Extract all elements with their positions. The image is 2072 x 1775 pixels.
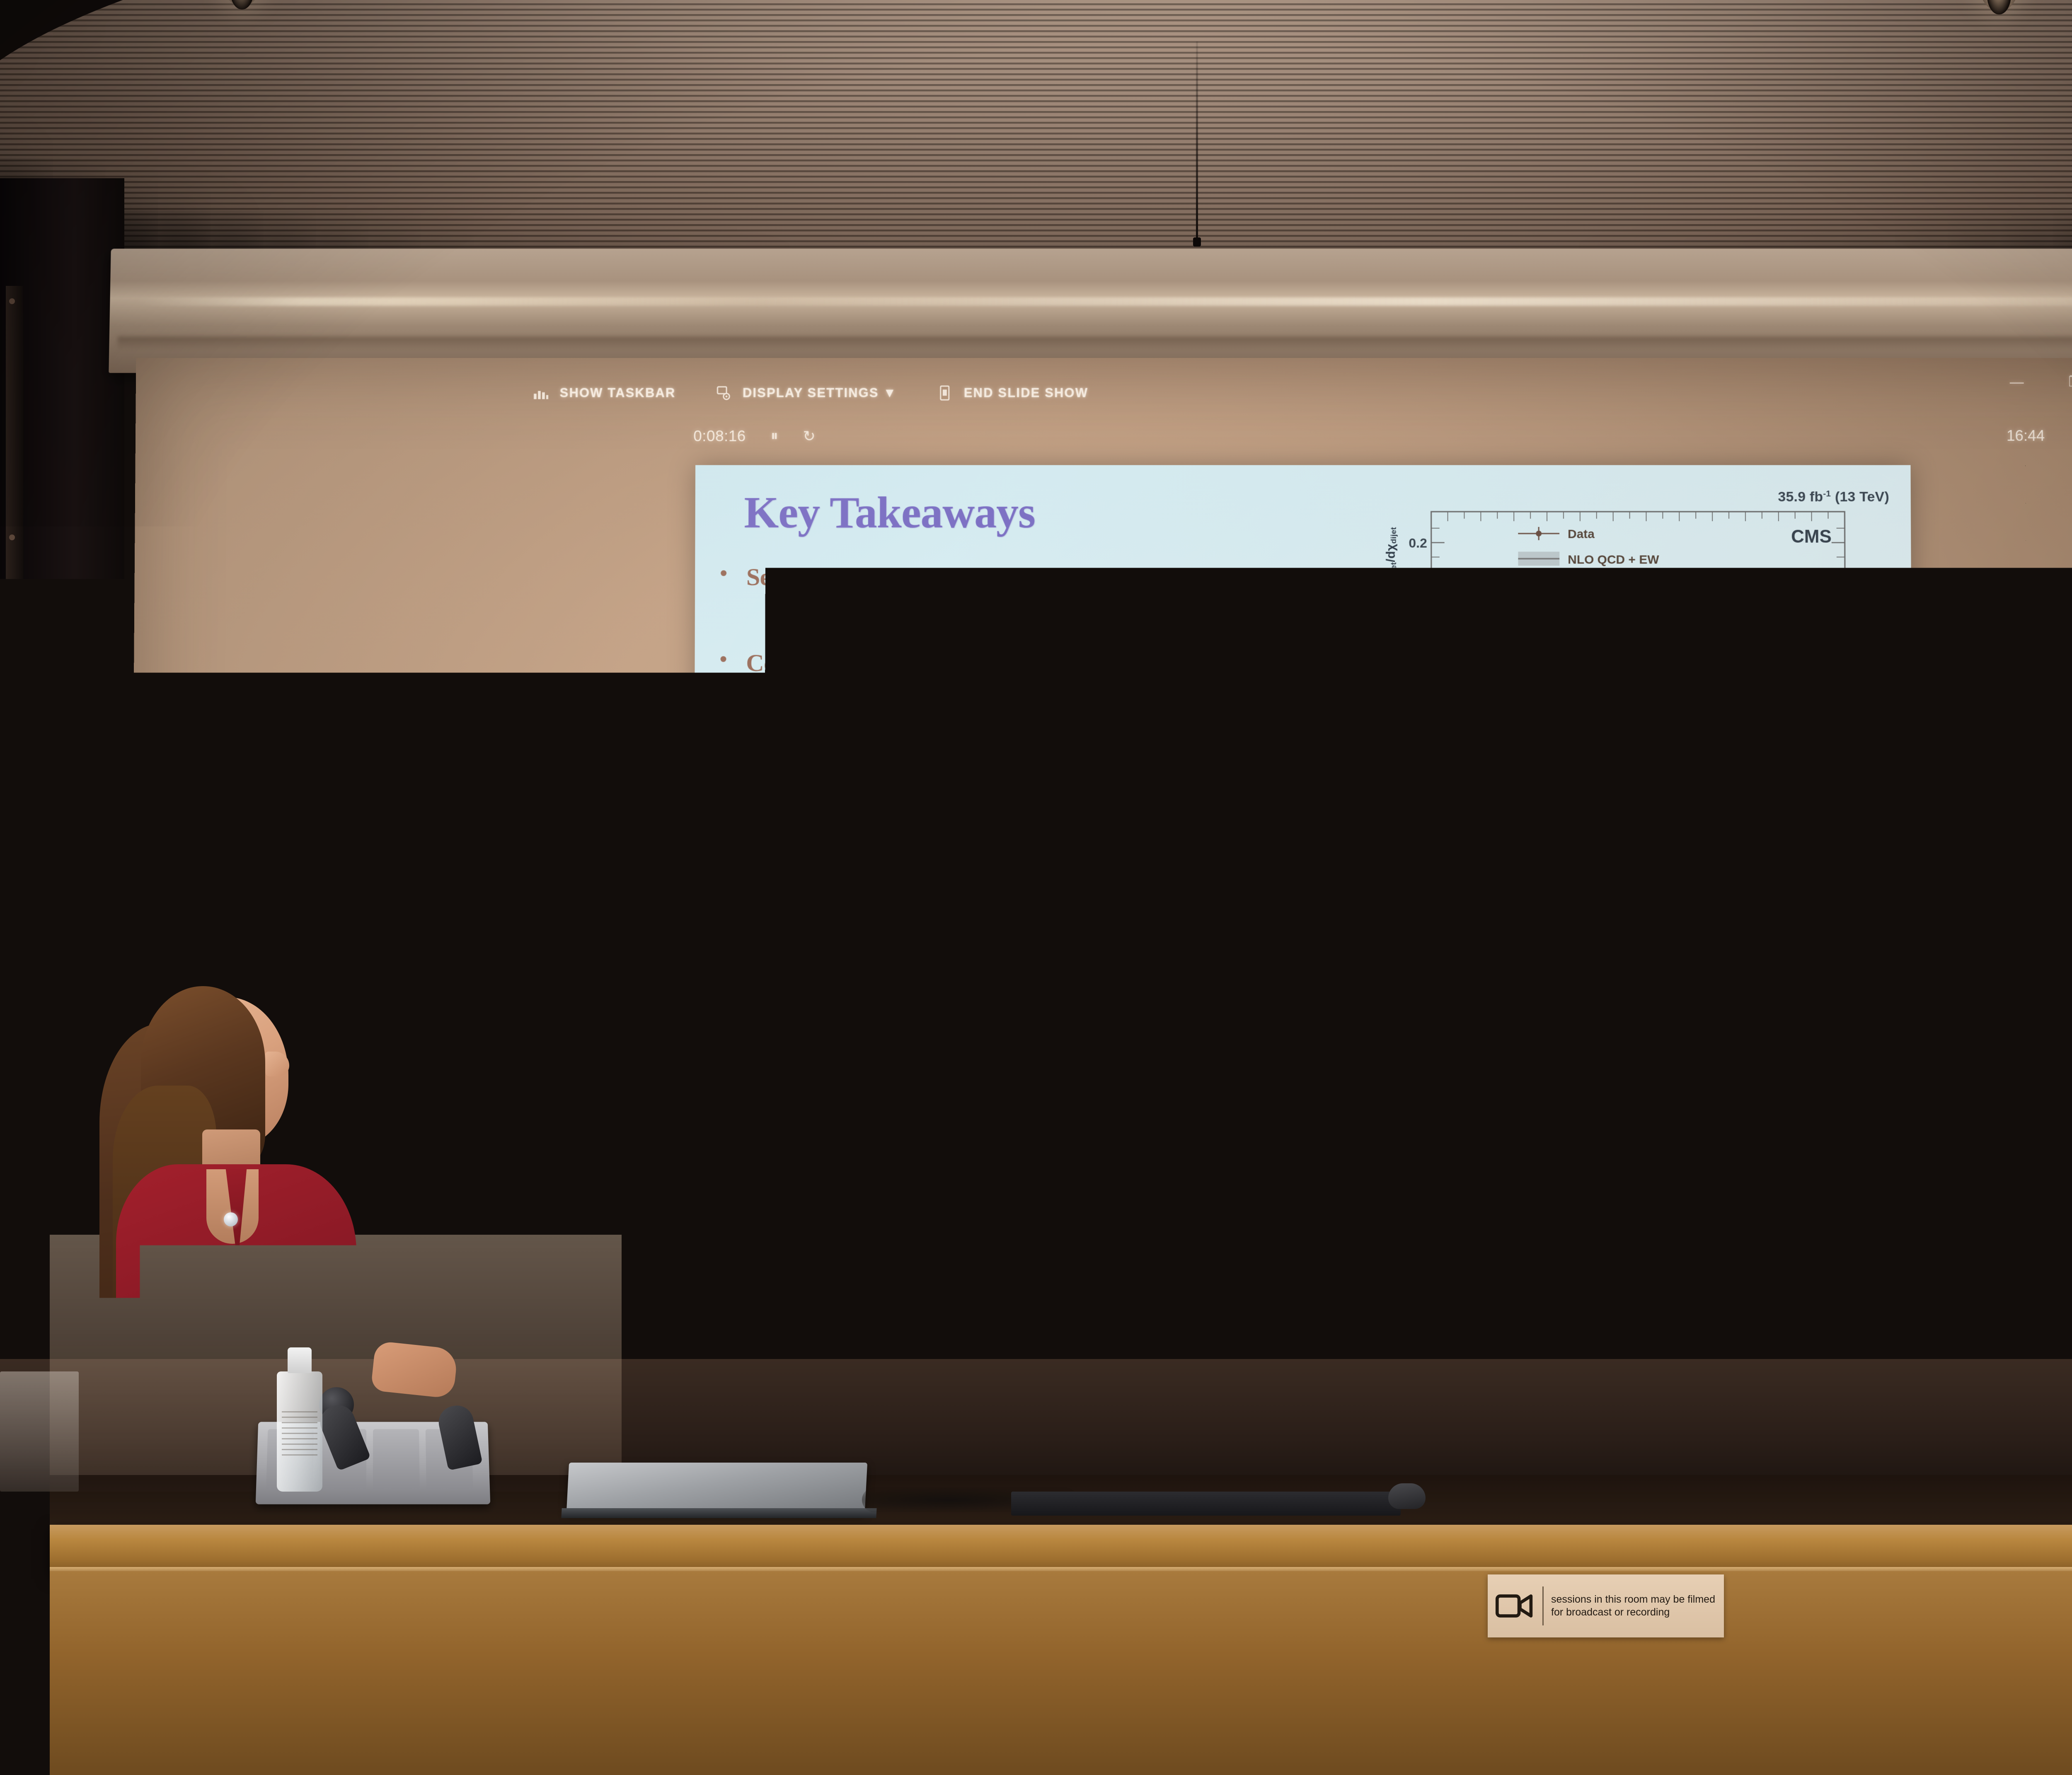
lecture-hall-scene: SHOW TASKBAR DISPLAY SETTINGS ▼ END: [0, 0, 2072, 1775]
slide-bullet-list: • Sensitivity to new models, ADD particu…: [719, 564, 1357, 852]
plot-source-caption: CMS Run 2 Analysis. https://arxiv.org/ab…: [1432, 1031, 1893, 1044]
slide-title: Key Takeaways: [744, 487, 1035, 538]
monitor-screen: [1862, 1313, 2072, 1450]
svg-text:12: 12: [1730, 984, 1745, 1000]
svg-text:(GRW) = 10 TeV: (GRW) = 10 TeV: [1585, 636, 1677, 650]
slide-footer: CERN Kylene Monaghan | Dijet Angular Dis…: [693, 1065, 1914, 1127]
svg-text:= 1.0) = 5 TeV: = 1.0) = 5 TeV: [1646, 693, 1724, 706]
svg-text:14: 14: [1785, 984, 1801, 1000]
ceiling-spotlight: [220, 0, 264, 7]
sub-bullet-dot-icon: •: [782, 595, 792, 611]
svg-text:2: 2: [1456, 984, 1464, 1000]
svg-text:Data: Data: [1568, 527, 1595, 541]
svg-text:−: −: [1577, 606, 1581, 615]
monitor-right: DELL: [1857, 1307, 2072, 1502]
cern-logo-icon: CERN: [705, 1072, 745, 1115]
filming-notice-sign: sessions in this room may be filmed for …: [1488, 1574, 1724, 1637]
show-taskbar-button[interactable]: SHOW TASKBAR: [533, 385, 676, 401]
end-show-icon: [937, 385, 953, 401]
asset-tag-sticker: [1881, 1340, 1934, 1365]
svg-text:M: M: [1568, 665, 1578, 679]
svg-text:8: 8: [1622, 984, 1630, 1000]
display-settings-button[interactable]: DISPLAY SETTINGS ▼: [715, 385, 897, 401]
mouse-cursor-icon: [1731, 693, 1750, 718]
presenter-tools: [670, 1154, 954, 1182]
display-settings-icon: [715, 385, 732, 401]
wall-fixture: [9, 534, 15, 540]
cms-label: CMS: [1791, 527, 1832, 547]
presenter-necklace: [224, 1212, 238, 1226]
wall-clock: 16:44: [2007, 427, 2045, 445]
next-slide-button[interactable]: [1370, 1217, 1408, 1255]
bullet-level2-text: Possibility to expand to additional mode…: [804, 595, 1152, 618]
display-settings-label: DISPLAY SETTINGS ▼: [743, 386, 897, 401]
footer-presentation-title: Kylene Monaghan | Dijet Angular Distribu…: [1088, 1083, 1435, 1095]
bullet-level1-text: Successful classification of jets with B…: [746, 735, 1170, 762]
plot-canvas: 0.2 0.15 0.1 0.05: [1382, 489, 1895, 1046]
svg-text:0.15: 0.15: [1402, 608, 1427, 623]
end-slide-show-label: END SLIDE SHOW: [964, 386, 1088, 401]
laptop-base: [561, 1508, 876, 1518]
ceiling-spotlight: [1977, 0, 2021, 12]
monitor-stand: [1608, 1405, 1658, 1483]
dijet-chi-plot: 35.9 fb-1 (13 TeV) 1/σdijet dσdijet/dχdi…: [1382, 489, 1895, 1046]
footer-divider: [693, 1065, 1913, 1066]
bullet-dot-icon: •: [719, 735, 732, 754]
show-taskbar-label: SHOW TASKBAR: [560, 386, 676, 401]
slide-counter-underline: [1232, 1249, 1331, 1253]
svg-text:+: +: [1577, 578, 1581, 587]
end-slide-show-button[interactable]: END SLIDE SHOW: [937, 385, 1088, 401]
timer-restart-button[interactable]: ↻: [803, 427, 815, 445]
bullet-level2: • Future training with full detector sim…: [781, 767, 1357, 789]
svg-text:T: T: [1576, 644, 1581, 653]
bullet-level1: • Competitive to CMS at low mass range: [719, 650, 1357, 676]
sign-divider: [1542, 1586, 1544, 1625]
svg-text:10: 10: [1674, 984, 1690, 1000]
svg-text:0.1: 0.1: [1409, 680, 1427, 695]
filming-notice-text: sessions in this room may be filmed for …: [1551, 1593, 1716, 1619]
wall-panel-left: [6, 286, 23, 1342]
computer-mouse: [1388, 1483, 1426, 1509]
svg-text:NLO QCD + EW: NLO QCD + EW: [1568, 553, 1659, 566]
bullet-level1-text: Competitive to CMS at low mass range: [746, 650, 1152, 676]
slide-counter: Slide 10 of 15: [1219, 1219, 1344, 1253]
timer-elapsed: 0:08:16: [693, 427, 746, 445]
pen-icon[interactable]: [670, 1154, 697, 1182]
svg-text:6: 6: [1567, 984, 1575, 1000]
laptop-device: [566, 1463, 867, 1512]
svg-text:2: 2: [1420, 829, 1428, 844]
valance-highlight: [135, 297, 2072, 306]
bullet-level1-text: Sensitivity to new models, ADD particula…: [746, 564, 1183, 590]
black-screen-icon[interactable]: [862, 1154, 889, 1182]
svg-text:< 6.0 TeV: < 6.0 TeV: [1729, 678, 1786, 693]
restore-button[interactable]: ❐: [2068, 374, 2072, 390]
bullet-level2: • Possibility to expand to additional mo…: [782, 595, 1357, 618]
svg-text:q: q: [1639, 701, 1644, 709]
video-camera-icon: [1495, 1591, 1535, 1620]
bullet-level2: • LHCb sensitivity in forward region: [782, 681, 1357, 704]
svg-text:Λ: Λ: [1568, 636, 1576, 650]
slide-navigation: Slide 10 of 15: [1155, 1217, 1408, 1255]
bullet-level2-text: Future training with full detector simul…: [804, 767, 1168, 789]
keyboard: [1011, 1492, 1401, 1516]
svg-text:M: M: [1709, 679, 1721, 693]
slide-counter-label: Slide 10 of 15: [1219, 1219, 1344, 1241]
svg-text:Med: Med: [1581, 701, 1596, 709]
minimize-button[interactable]: —: [2010, 374, 2024, 390]
ceiling-cable: [1196, 41, 1198, 242]
svg-text:(CI) = 14 TeV: (CI) = 14 TeV: [1588, 579, 1661, 592]
bullet-group: • Successful classification of jets with…: [719, 735, 1357, 789]
presenter-toolbar: SHOW TASKBAR DISPLAY SETTINGS ▼ END: [367, 366, 2072, 420]
bullet-level1: • Sensitivity to new models, ADD particu…: [720, 564, 1357, 590]
bullet-dot-icon: •: [719, 650, 732, 669]
wall-fixture: [9, 298, 15, 304]
svg-text:1: 1: [1420, 900, 1428, 914]
bullet-level1-text: Ability to study unique, pure QCD effect…: [746, 822, 1178, 848]
svg-text:0.5: 0.5: [1409, 935, 1428, 950]
bullet-dot-icon: •: [720, 564, 732, 583]
svg-text:= 6 ADD) = 8 TeV: = 6 ADD) = 8 TeV: [1632, 665, 1730, 679]
bullet-group: • Ability to study unique, pure QCD effe…: [719, 822, 1357, 848]
presentation-timer: 0:08:16 ⏸ ↻: [693, 427, 815, 445]
dock-slot: [373, 1429, 420, 1491]
asset-tag-sticker: [1445, 1344, 1499, 1369]
previous-slide-button[interactable]: [1155, 1217, 1193, 1255]
monitor-stand: [2043, 1400, 2072, 1479]
plot-x-axis-label: χdijet: [1866, 997, 1893, 1018]
left-equipment: [0, 1371, 79, 1492]
svg-text:(DM g: (DM g: [1603, 693, 1637, 706]
svg-text:LL: LL: [1575, 587, 1585, 596]
svg-text:0.2: 0.2: [1409, 536, 1427, 551]
current-slide[interactable]: Key Takeaways • Sensitivity to new model…: [693, 465, 1914, 1127]
svg-text:QBH: QBH: [1581, 673, 1598, 682]
svg-text:4: 4: [1511, 984, 1519, 1000]
bullet-dot-icon: •: [719, 822, 731, 841]
desk-front-panel: [50, 1571, 2072, 1775]
bullet-group: • Competitive to CMS at low mass range •…: [719, 650, 1357, 703]
svg-text:M: M: [1568, 693, 1578, 706]
svg-text:0.05: 0.05: [1402, 752, 1427, 767]
chevron-right-icon: [1383, 1227, 1397, 1245]
bullet-level1: • Ability to study unique, pure QCD effe…: [719, 822, 1357, 848]
more-options-icon[interactable]: [926, 1154, 954, 1182]
footer-page-number: 10: [1858, 1083, 1869, 1095]
hand-sanitizer-bottle: [277, 1371, 322, 1492]
timer-pause-button[interactable]: ⏸: [771, 427, 778, 445]
svg-text:0: 0: [1421, 970, 1428, 985]
sub-bullet-dot-icon: •: [781, 767, 791, 783]
presenter-view: SHOW TASKBAR DISPLAY SETTINGS ▼ END: [362, 366, 2072, 1336]
svg-text:(n: (n: [1605, 665, 1616, 679]
svg-text:1.5: 1.5: [1409, 864, 1428, 879]
svg-text:LL: LL: [1575, 615, 1585, 624]
zoom-icon[interactable]: [798, 1154, 825, 1182]
svg-text:5.4 <: 5.4 <: [1672, 678, 1702, 693]
svg-text:16: 16: [1839, 984, 1854, 1000]
valance-shadow: [117, 336, 2072, 351]
svg-text:ED: ED: [1619, 673, 1629, 682]
screen-valance: [109, 249, 2072, 373]
svg-text:CERN: CERN: [717, 1089, 733, 1095]
all-slides-icon[interactable]: [734, 1154, 762, 1182]
svg-text:(CI) = 14 TeV: (CI) = 14 TeV: [1588, 607, 1661, 621]
footer-date: 06.08.2025: [1733, 1083, 1781, 1095]
chevron-left-icon: [1167, 1227, 1180, 1245]
bullet-group: • Sensitivity to new models, ADD particu…: [720, 564, 1357, 617]
bullet-level2-text: LHCb sensitivity in forward region: [804, 681, 1096, 704]
window-controls: — ❐ ✕: [2010, 374, 2072, 390]
taskbar-icon: [533, 385, 549, 401]
svg-text:jj: jj: [1719, 687, 1726, 696]
sub-bullet-dot-icon: •: [782, 681, 792, 697]
bullet-level1: • Successful classification of jets with…: [719, 735, 1357, 762]
